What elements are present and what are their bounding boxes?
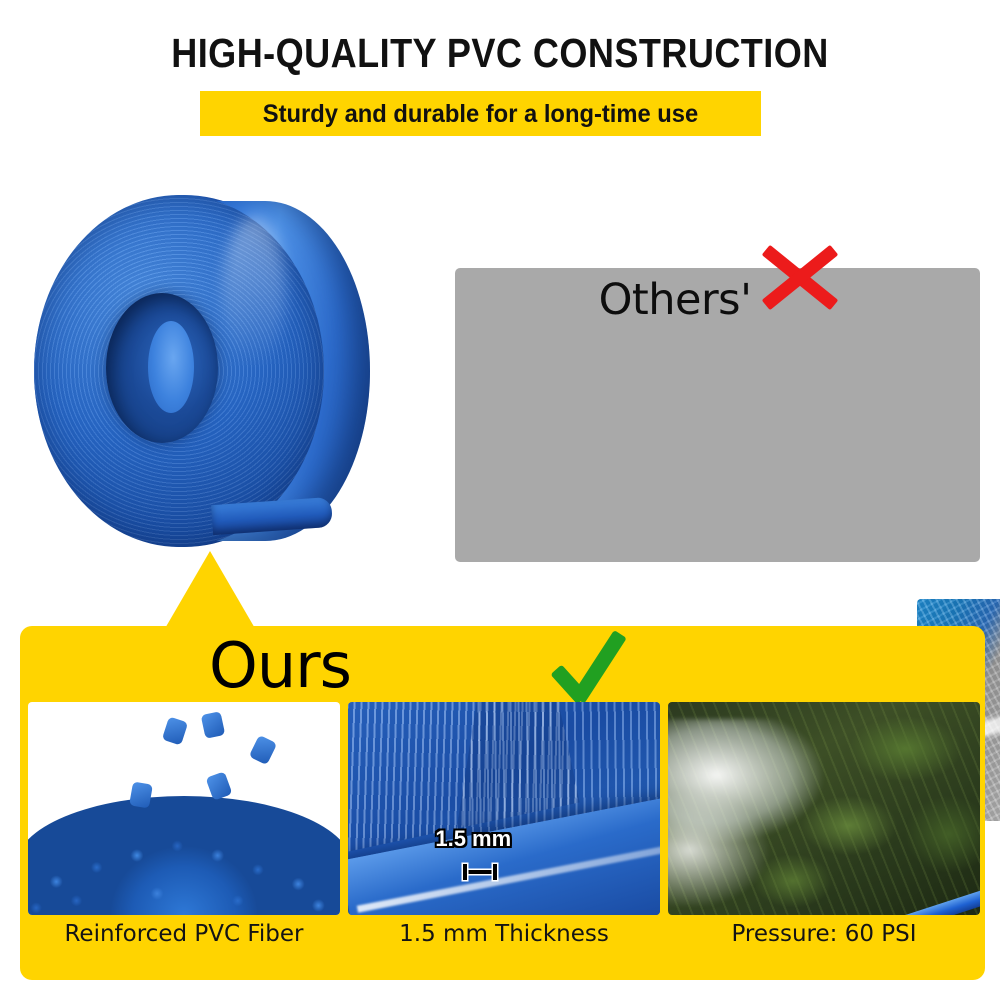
feature-tile-pressure [668,702,980,915]
pvc-hose-infographic: HIGH-QUALITY PVC CONSTRUCTION Sturdy and… [0,0,1000,1000]
hose-coil-core-inner [148,321,194,413]
green-check-icon [552,624,648,706]
high-pressure-water-spray [668,719,874,906]
hose-gloss-highlight [222,217,286,367]
feature-tile-pvc-pellets [28,702,340,915]
pellet-falling-3 [248,735,276,765]
ours-feature-captions: Reinforced PVC Fiber 1.5 mm Thickness Pr… [28,921,980,947]
caliper-jaw-right [493,864,497,880]
page-title: HIGH-QUALITY PVC CONSTRUCTION [60,30,940,77]
caption-pressure: Pressure: 60 PSI [668,921,980,947]
caliper-jaw-left [463,864,467,880]
page-subtitle: Sturdy and durable for a long-time use [214,95,747,133]
caliper-rod [465,870,495,874]
caption-thickness: 1.5 mm Thickness [348,921,660,947]
pellet-grains [28,796,340,915]
red-x-icon [753,238,845,316]
ours-label: Ours [20,625,540,707]
ours-feature-tiles: 1.5 mm [28,702,980,915]
product-photo-hose-roll [26,183,396,568]
pellet-falling-1 [162,717,188,746]
feature-tile-thickness: 1.5 mm [348,702,660,915]
caliper-icon [463,864,497,880]
thickness-badge: 1.5 mm [435,826,511,852]
caption-reinforced-pvc-fiber: Reinforced PVC Fiber [28,921,340,947]
check-stroke-long [572,630,627,704]
pellet-falling-2 [200,711,225,739]
pellet-falling-5 [129,781,153,808]
